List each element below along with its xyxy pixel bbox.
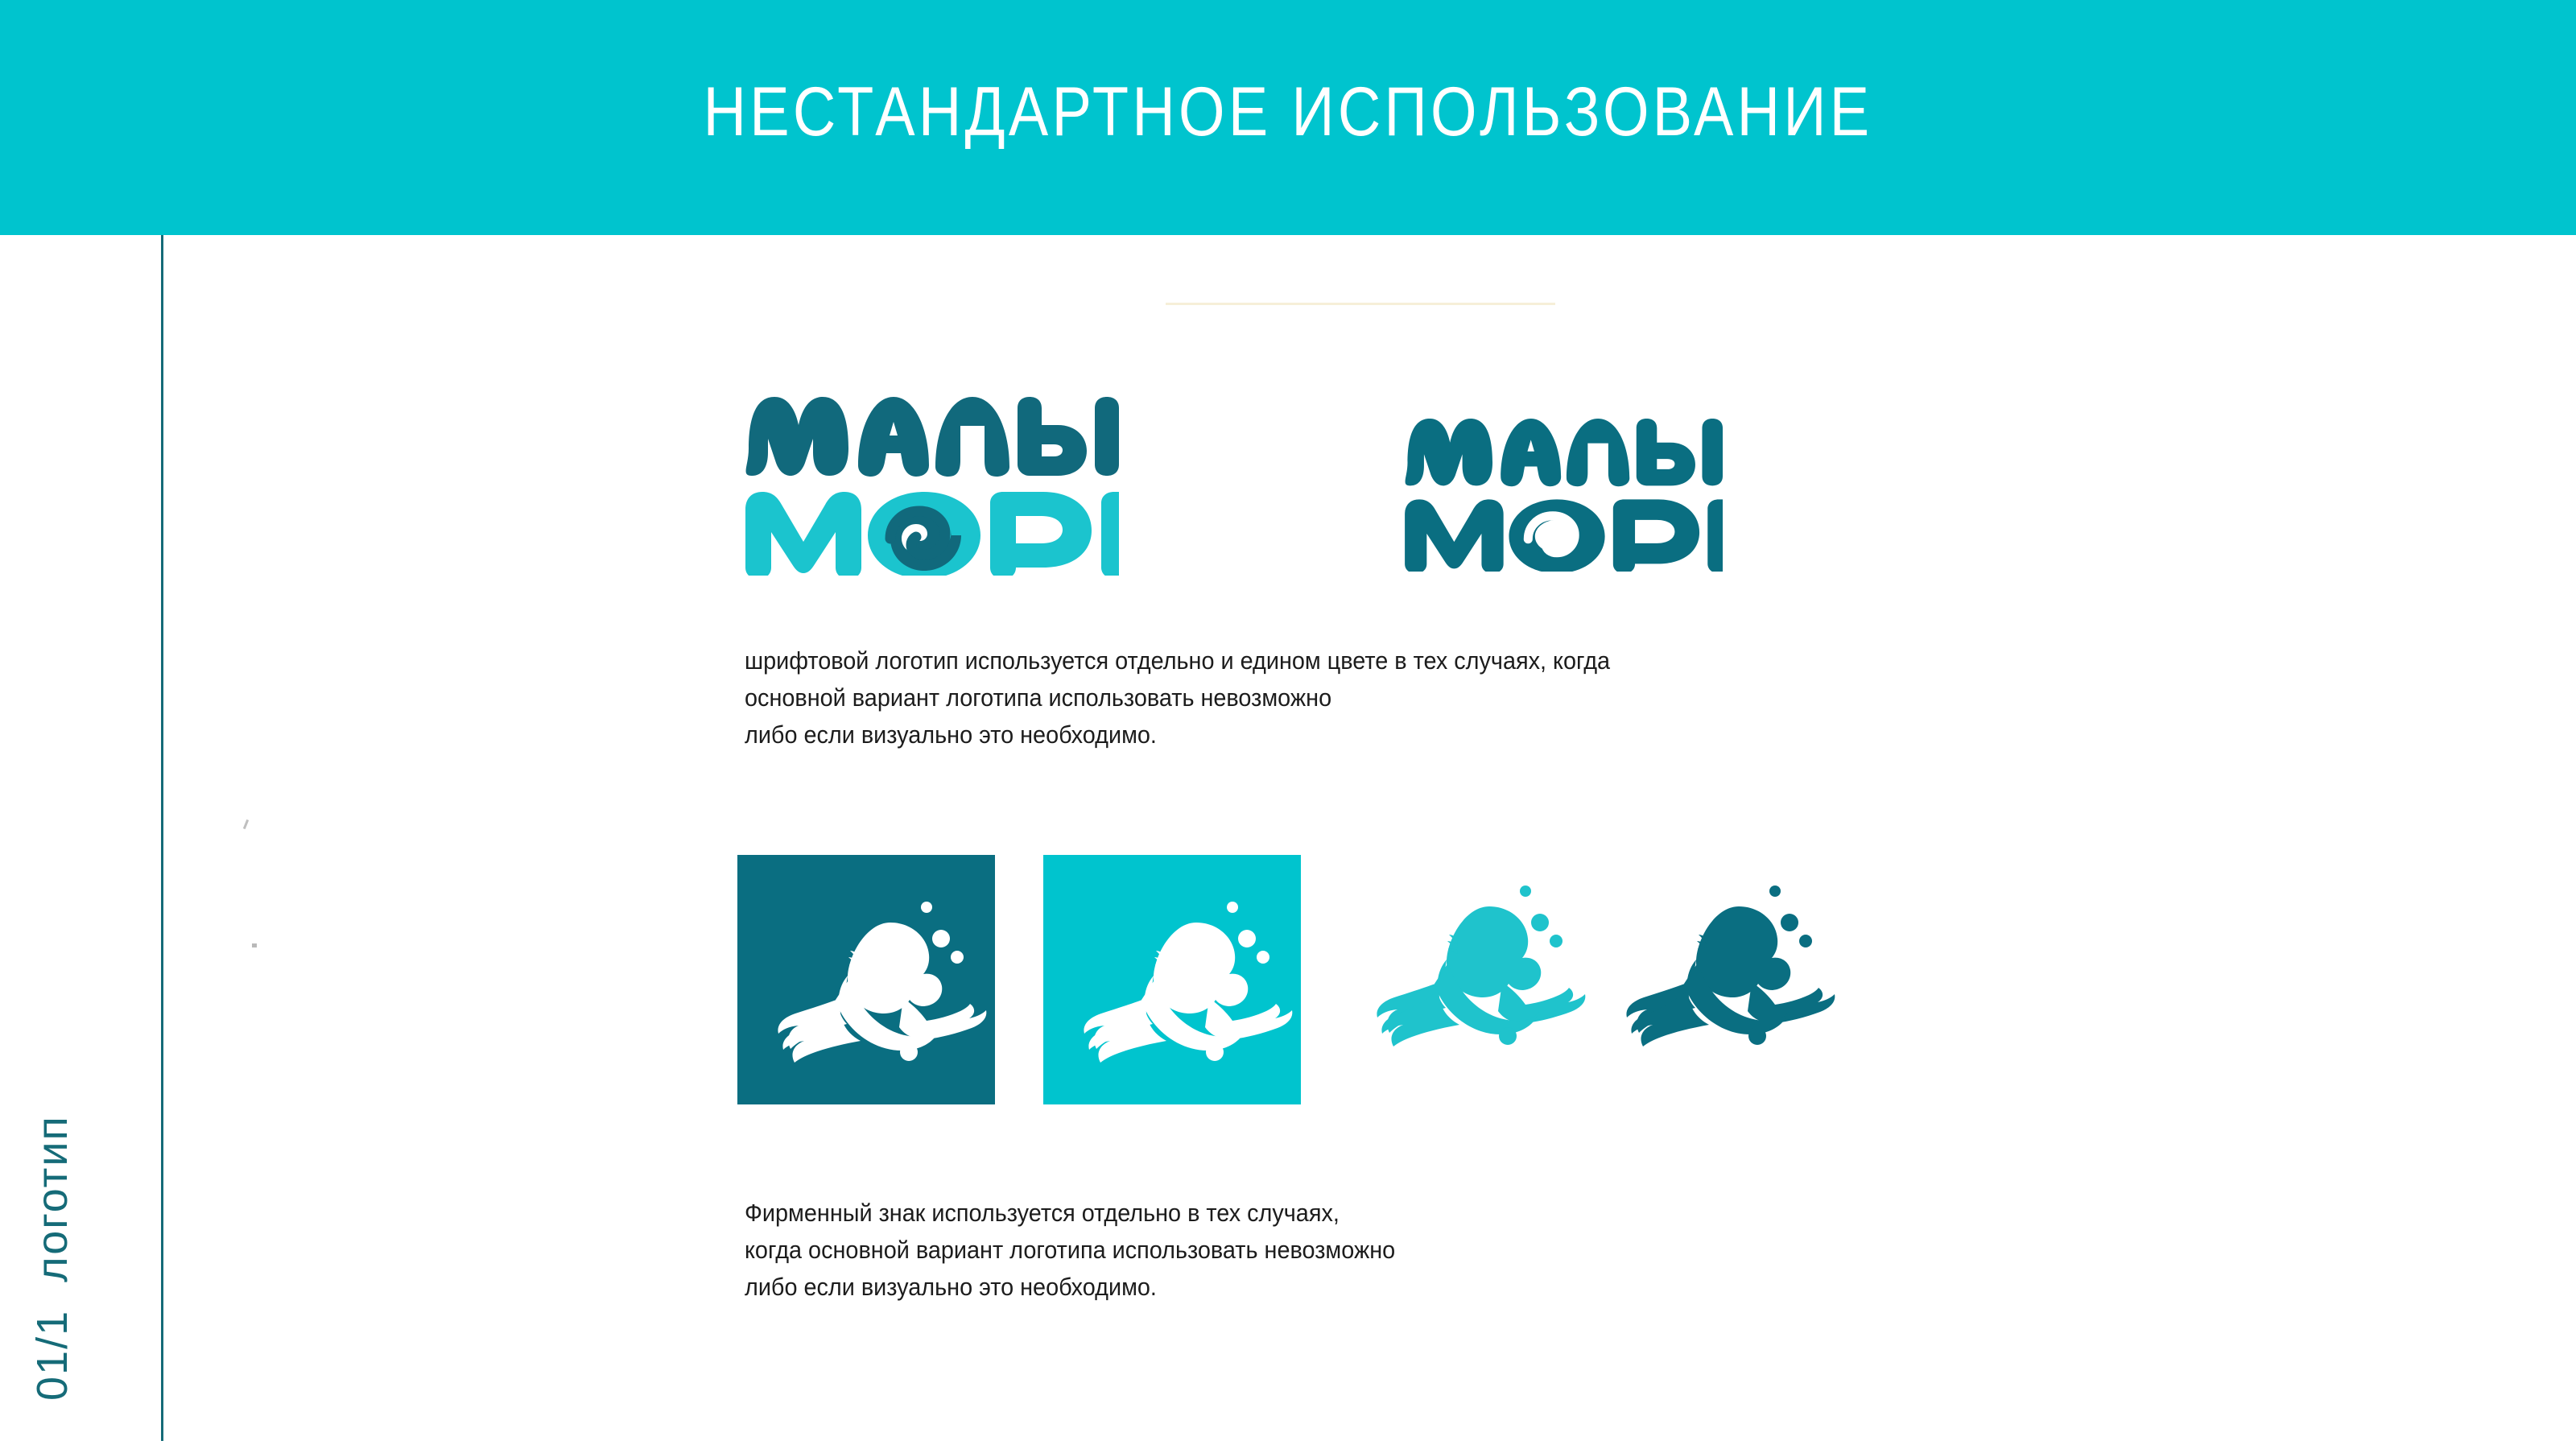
emblem-white-on-cyan (1043, 855, 1301, 1104)
sidebar-rail-text: 01/1 логотип (27, 1115, 77, 1401)
note-typographic-logo: шрифтовой логотип используется отдельно … (745, 642, 1610, 753)
sidebar-divider-line (161, 235, 163, 1441)
page-title: НЕСТАНДАРТНОЕ ИСПОЛЬЗОВАНИЕ (180, 0, 2396, 235)
emblem-cyan-on-white (1360, 879, 1594, 1088)
artifact-speck (252, 943, 257, 947)
page-number: 01/1 (27, 1310, 77, 1401)
swimming-baby-icon (1377, 885, 1585, 1046)
emblem-teal-on-white (1610, 879, 1843, 1088)
accent-rule (1166, 303, 1555, 305)
section-label: логотип (27, 1115, 77, 1282)
swimming-baby-icon (1084, 902, 1292, 1063)
swimming-baby-icon (778, 902, 986, 1063)
sidebar-rail: 01/1 логотип (0, 235, 161, 1449)
header-band: НЕСТАНДАРТНОЕ ИСПОЛЬЗОВАНИЕ (0, 0, 2576, 235)
swimming-baby-icon (1626, 885, 1835, 1046)
logo-line-malysh-i (746, 397, 1119, 481)
artifact-speck (243, 819, 249, 829)
logo-monochrome (1401, 398, 1723, 576)
note-emblem-mark: Фирменный знак используется отдельно в т… (745, 1195, 1395, 1306)
emblem-white-on-deep-teal (737, 855, 995, 1104)
logo-primary-two-tone (741, 374, 1119, 580)
